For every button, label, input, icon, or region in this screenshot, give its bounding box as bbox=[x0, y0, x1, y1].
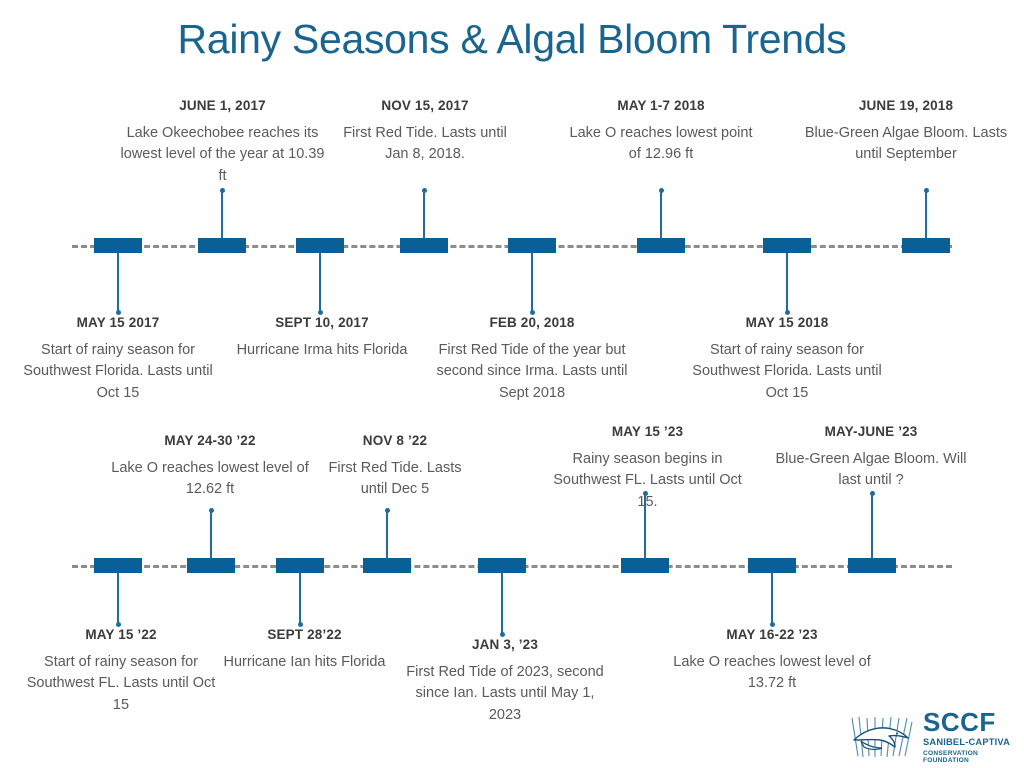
timeline-marker[interactable] bbox=[94, 558, 142, 573]
timeline-marker[interactable] bbox=[363, 558, 411, 573]
timeline-marker[interactable] bbox=[198, 238, 246, 253]
sccf-logo: SCCF SANIBEL-CAPTIVA CONSERVATION FOUNDA… bbox=[848, 712, 1016, 762]
timeline-marker[interactable] bbox=[763, 238, 811, 253]
timeline-marker[interactable] bbox=[508, 238, 556, 253]
connector-stem bbox=[117, 573, 119, 625]
event-date: MAY 24-30 ’22 bbox=[110, 433, 310, 450]
logo-acronym: SCCF bbox=[923, 709, 1016, 735]
event-date: MAY 15 ’23 bbox=[545, 424, 750, 441]
timeline-2022-2023: MAY 24-30 ’22 Lake O reaches lowest leve… bbox=[0, 425, 1024, 730]
timeline-marker[interactable] bbox=[296, 238, 344, 253]
timeline-event: JAN 3, ’23 First Red Tide of 2023, secon… bbox=[405, 637, 605, 726]
event-description: Start of rainy season for Southwest Flor… bbox=[14, 340, 222, 404]
timeline-2017-2018: JUNE 1, 2017 Lake Okeechobee reaches its… bbox=[0, 90, 1024, 410]
connector-stem bbox=[501, 573, 503, 635]
timeline-event: SEPT 28’22 Hurricane Ian hits Florida bbox=[222, 627, 387, 673]
event-date: JUNE 19, 2018 bbox=[800, 98, 1012, 115]
event-description: First Red Tide of the year but second si… bbox=[428, 340, 636, 404]
timeline-event: MAY 1-7 2018 Lake O reaches lowest point… bbox=[566, 98, 756, 166]
event-description: First Red Tide. Lasts until Jan 8, 2018. bbox=[330, 123, 520, 166]
timeline-event: JUNE 1, 2017 Lake Okeechobee reaches its… bbox=[120, 98, 325, 187]
page-title: Rainy Seasons & Algal Bloom Trends bbox=[0, 17, 1024, 63]
event-date: MAY 15 2017 bbox=[14, 315, 222, 332]
event-date: MAY 15 ’22 bbox=[21, 627, 221, 644]
timeline-marker[interactable] bbox=[187, 558, 235, 573]
connector-stem bbox=[210, 510, 212, 558]
event-description: Lake O reaches lowest point of 12.96 ft bbox=[566, 123, 756, 166]
timeline-event: MAY 24-30 ’22 Lake O reaches lowest leve… bbox=[110, 433, 310, 501]
event-date: FEB 20, 2018 bbox=[428, 315, 636, 332]
timeline-marker[interactable] bbox=[478, 558, 526, 573]
timeline-event: JUNE 19, 2018 Blue-Green Algae Bloom. La… bbox=[800, 98, 1012, 166]
connector-stem bbox=[423, 190, 425, 238]
timeline-event: NOV 15, 2017 First Red Tide. Lasts until… bbox=[330, 98, 520, 166]
logo-organization-name: SANIBEL-CAPTIVA bbox=[923, 737, 1016, 748]
event-description: Blue-Green Algae Bloom. Will last until … bbox=[765, 449, 977, 492]
event-description: Start of rainy season for Southwest Flor… bbox=[692, 340, 882, 404]
timeline-event: MAY 15 ’23 Rainy season begins in Southw… bbox=[545, 424, 750, 513]
timeline-marker[interactable] bbox=[748, 558, 796, 573]
timeline-marker[interactable] bbox=[902, 238, 950, 253]
event-date: SEPT 10, 2017 bbox=[232, 315, 412, 332]
timeline-event: MAY-JUNE ’23 Blue-Green Algae Bloom. Wil… bbox=[765, 424, 977, 492]
timeline-event: NOV 8 ’22 First Red Tide. Lasts until De… bbox=[325, 433, 465, 501]
timeline-marker[interactable] bbox=[637, 238, 685, 253]
timeline-marker[interactable] bbox=[621, 558, 669, 573]
event-description: First Red Tide. Lasts until Dec 5 bbox=[325, 458, 465, 501]
event-date: MAY 16-22 ’23 bbox=[672, 627, 872, 644]
timeline-event: MAY 15 2018 Start of rainy season for So… bbox=[692, 315, 882, 404]
event-description: First Red Tide of 2023, second since Ian… bbox=[405, 662, 605, 726]
connector-stem bbox=[117, 253, 119, 313]
connector-stem bbox=[771, 573, 773, 625]
event-date: NOV 15, 2017 bbox=[330, 98, 520, 115]
event-description: Lake O reaches lowest level of 12.62 ft bbox=[110, 458, 310, 501]
connector-stem bbox=[925, 190, 927, 238]
event-date: MAY-JUNE ’23 bbox=[765, 424, 977, 441]
event-date: MAY 15 2018 bbox=[692, 315, 882, 332]
event-description: Hurricane Ian hits Florida bbox=[222, 652, 387, 673]
event-description: Hurricane Irma hits Florida bbox=[232, 340, 412, 361]
timeline-event: FEB 20, 2018 First Red Tide of the year … bbox=[428, 315, 636, 404]
connector-stem bbox=[221, 190, 223, 238]
logo-organization-subtitle: CONSERVATION FOUNDATION bbox=[923, 750, 1016, 765]
connector-stem bbox=[299, 573, 301, 625]
timeline-event: SEPT 10, 2017 Hurricane Irma hits Florid… bbox=[232, 315, 412, 361]
timeline-event: MAY 15 2017 Start of rainy season for So… bbox=[14, 315, 222, 404]
logo-text-group: SCCF SANIBEL-CAPTIVA CONSERVATION FOUNDA… bbox=[923, 709, 1016, 764]
event-date: JUNE 1, 2017 bbox=[120, 98, 325, 115]
event-description: Lake Okeechobee reaches its lowest level… bbox=[120, 123, 325, 187]
timeline-event: MAY 16-22 ’23 Lake O reaches lowest leve… bbox=[672, 627, 872, 695]
event-date: JAN 3, ’23 bbox=[405, 637, 605, 654]
timeline-marker[interactable] bbox=[848, 558, 896, 573]
connector-stem bbox=[319, 253, 321, 313]
event-description: Start of rainy season for Southwest FL. … bbox=[21, 652, 221, 716]
event-date: MAY 1-7 2018 bbox=[566, 98, 756, 115]
dolphin-logo-icon bbox=[848, 714, 914, 760]
event-date: NOV 8 ’22 bbox=[325, 433, 465, 450]
connector-stem bbox=[786, 253, 788, 313]
connector-stem bbox=[871, 493, 873, 558]
timeline-marker[interactable] bbox=[94, 238, 142, 253]
timeline-event: MAY 15 ’22 Start of rainy season for Sou… bbox=[21, 627, 221, 716]
event-description: Lake O reaches lowest level of 13.72 ft bbox=[672, 652, 872, 695]
event-date: SEPT 28’22 bbox=[222, 627, 387, 644]
timeline-marker[interactable] bbox=[276, 558, 324, 573]
connector-stem bbox=[531, 253, 533, 313]
event-description: Blue-Green Algae Bloom. Lasts until Sept… bbox=[800, 123, 1012, 166]
connector-stem bbox=[386, 510, 388, 558]
event-description: Rainy season begins in Southwest FL. Las… bbox=[545, 449, 750, 513]
connector-stem bbox=[660, 190, 662, 238]
timeline-marker[interactable] bbox=[400, 238, 448, 253]
